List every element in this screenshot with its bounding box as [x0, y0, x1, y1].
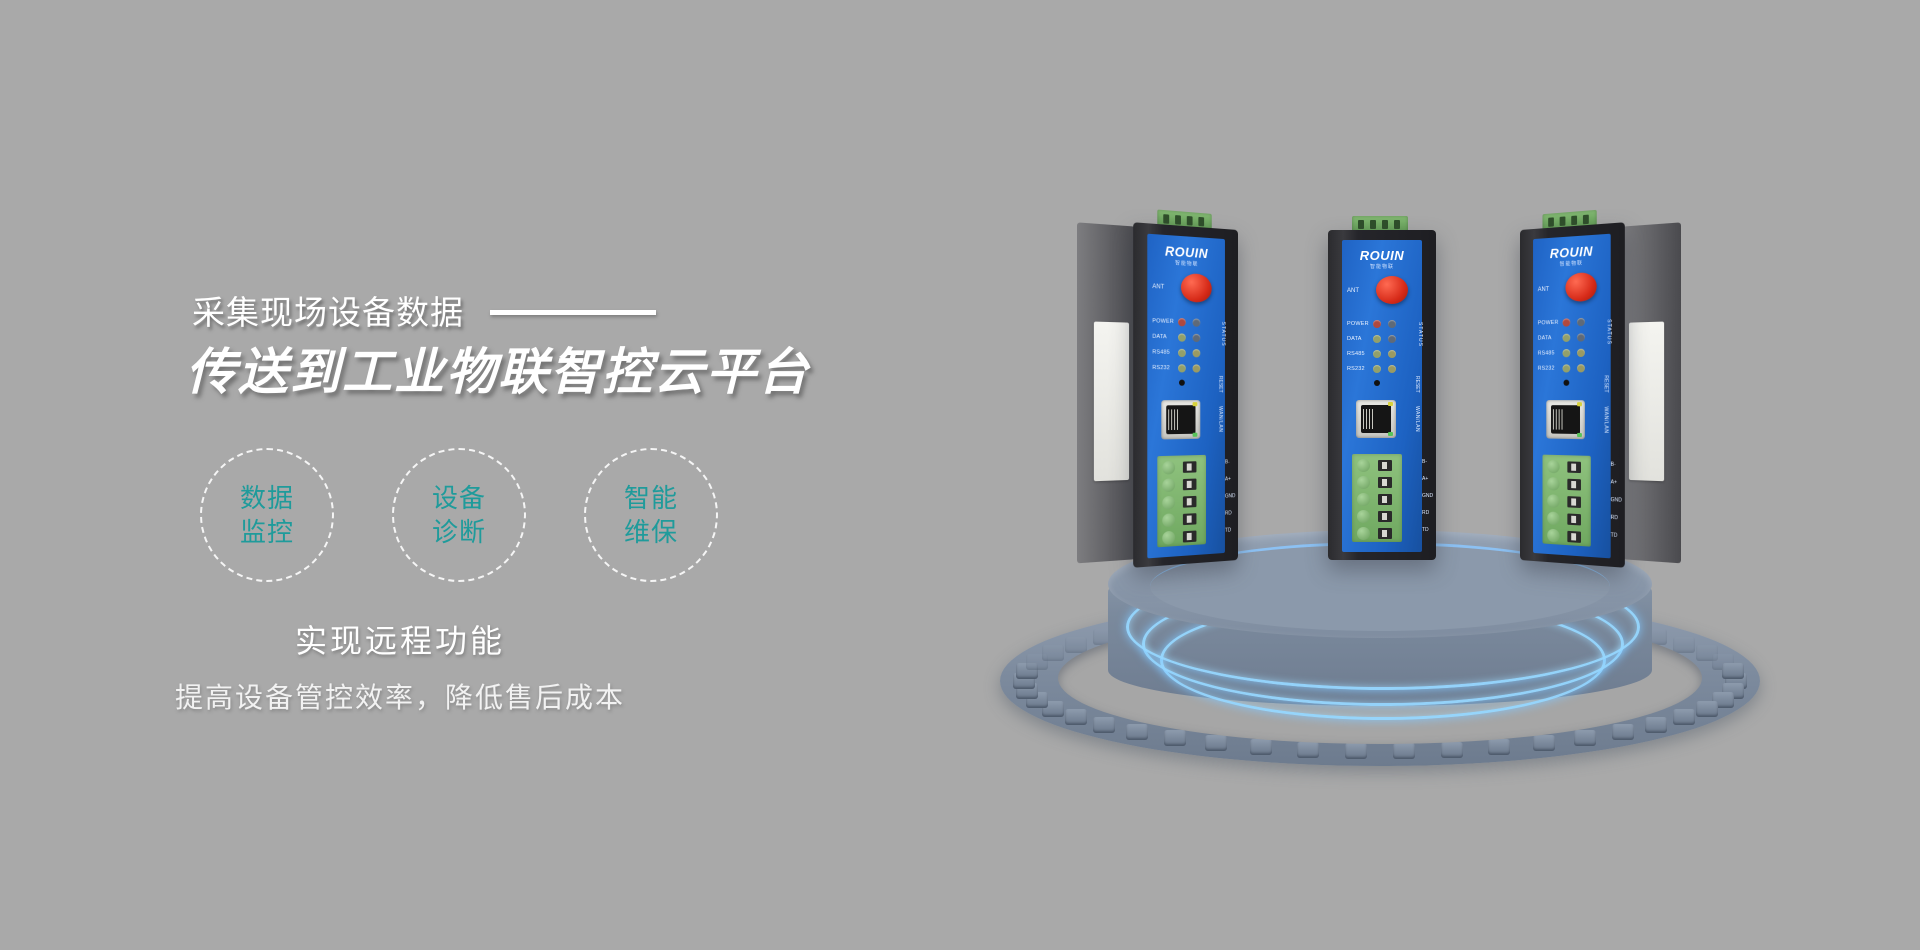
feature-circle-line1: 数据: [240, 481, 294, 515]
rj45-led-yellow: [1577, 402, 1582, 406]
copy-block: 采集现场设备数据 传送到工业物联智控云平台 数据 监控 设备 诊断 智能 维保 …: [0, 0, 960, 950]
led-row-rs485: RS485: [1152, 344, 1220, 361]
led-label: POWER: [1347, 321, 1373, 327]
terminal-pin-label: RD: [1225, 505, 1234, 523]
terminal-slot: [1183, 496, 1197, 508]
terminal-slot: [1567, 531, 1581, 543]
led-indicator: [1577, 364, 1585, 372]
led-label: RS485: [1538, 350, 1563, 357]
terminal-slot: [1378, 477, 1392, 488]
led-indicator: [1373, 350, 1381, 358]
device-product-label-sticker: [1094, 322, 1129, 482]
pedestal-tooth: [1533, 735, 1555, 751]
brand-subtitle: 智能物联: [1342, 263, 1422, 270]
reset-label: RESET: [1603, 375, 1609, 392]
led-label: DATA: [1152, 333, 1178, 340]
rj45-pins: [1168, 409, 1180, 430]
pedestal-tooth: [1574, 730, 1596, 746]
led-indicator: [1577, 333, 1585, 341]
led-label: RS232: [1347, 366, 1373, 372]
led-indicator: [1373, 320, 1381, 328]
led-row-rs232: RS232: [1347, 361, 1417, 376]
terminal-slot: [1183, 461, 1197, 473]
eyebrow-rule-divider: [490, 310, 656, 315]
terminal-pin-label: RD: [1422, 505, 1432, 522]
product-photo-stage: ROUIN 智能物联 ANT POWER DATA RS485: [1000, 230, 1800, 790]
feature-circle-data-monitoring[interactable]: 数据 监控: [200, 448, 334, 582]
led-indicator-panel: POWER DATA RS485 RS232: [1347, 316, 1417, 376]
terminal-pin-label: B-: [1611, 456, 1621, 474]
terminal-slot: [1378, 494, 1392, 505]
rj45-cavity: [1551, 405, 1580, 434]
rj45-led-green: [1577, 433, 1582, 437]
terminal-pin-label-column: B-A+GNDRDTD: [1225, 454, 1234, 543]
feature-circle-device-diagnosis[interactable]: 设备 诊断: [392, 448, 526, 582]
rj45-led-green: [1388, 432, 1393, 436]
terminal-slot: [1378, 528, 1392, 539]
terminal-screw: [1357, 476, 1370, 489]
status-label: STATUS: [1417, 322, 1423, 347]
pedestal-tooth: [1297, 742, 1319, 758]
feature-circle-line1: 智能: [624, 481, 678, 515]
terminal-slot: [1567, 461, 1581, 473]
product-banner: 采集现场设备数据 传送到工业物联智控云平台 数据 监控 设备 诊断 智能 维保 …: [0, 0, 1920, 950]
gateway-device-right: ROUIN 智能物联 ANT POWER DATA RS485: [1520, 222, 1625, 568]
led-indicator-panel: POWER DATA RS485 RS232: [1152, 313, 1220, 376]
terminal-pin-label: GND: [1422, 488, 1432, 505]
antenna-connector-icon: [1376, 276, 1408, 304]
rj45-ethernet-port: [1356, 400, 1396, 438]
pedestal-tooth: [1722, 663, 1744, 679]
rj45-cavity: [1166, 405, 1195, 434]
gateway-device-left: ROUIN 智能物联 ANT POWER DATA RS485: [1133, 222, 1238, 568]
terminal-pin-label: GND: [1225, 488, 1234, 505]
terminal-screw: [1547, 460, 1559, 474]
reset-button-hole[interactable]: [1563, 380, 1569, 386]
terminal-slot: [1183, 479, 1197, 491]
led-indicator: [1178, 333, 1186, 341]
terminal-slot: [1378, 460, 1392, 471]
pedestal-tooth: [1696, 701, 1718, 717]
terminal-pin-label: A+: [1611, 474, 1621, 492]
terminal-screw: [1357, 493, 1370, 506]
pedestal-tooth: [1250, 739, 1272, 755]
led-indicator: [1193, 333, 1201, 341]
led-row-data: DATA: [1152, 329, 1220, 346]
led-indicator: [1373, 335, 1381, 343]
led-indicator: [1577, 317, 1585, 325]
terminal-screw: [1547, 529, 1559, 543]
status-label: STATUS: [1606, 319, 1612, 345]
led-indicator: [1388, 365, 1396, 373]
terminal-slot: [1183, 513, 1197, 525]
pedestal-tooth: [1205, 735, 1227, 751]
antenna-connector-icon: [1565, 272, 1596, 302]
terminal-screw: [1357, 527, 1370, 540]
terminal-screw: [1162, 513, 1175, 527]
gateway-device-center: ROUIN 智能物联 ANT POWER DATA RS485: [1328, 230, 1436, 560]
led-label: RS232: [1538, 365, 1563, 371]
led-label: DATA: [1347, 336, 1373, 342]
terminal-screw: [1547, 494, 1559, 508]
pedestal-tooth: [1065, 709, 1087, 725]
sub-copy-text: 提高设备管控效率，降低售后成本: [0, 676, 800, 716]
rj45-led-green: [1193, 433, 1198, 437]
reset-label: RESET: [1217, 376, 1223, 393]
feature-circle-line1: 设备: [432, 481, 486, 515]
rj45-led-yellow: [1388, 402, 1393, 406]
terminal-screw: [1547, 511, 1559, 525]
led-row-rs485: RS485: [1538, 344, 1606, 361]
wan-lan-label: WAN/LAN: [1603, 406, 1609, 433]
rj45-led-yellow: [1193, 402, 1198, 406]
led-indicator: [1373, 365, 1381, 373]
pedestal-tooth: [1042, 645, 1064, 661]
antenna-connector-icon: [1181, 273, 1212, 303]
led-indicator: [1388, 335, 1396, 343]
led-label: DATA: [1538, 334, 1563, 341]
device-group: ROUIN 智能物联 ANT POWER DATA RS485: [1120, 230, 1680, 590]
status-label: STATUS: [1220, 321, 1226, 346]
led-row-rs232: RS232: [1538, 360, 1606, 376]
feature-circle-line2: 诊断: [432, 515, 486, 549]
rj45-ethernet-port: [1546, 400, 1585, 439]
terminal-screw: [1357, 510, 1370, 523]
terminal-pin-label: A+: [1225, 471, 1234, 488]
terminal-pin-label: TD: [1611, 527, 1621, 545]
pedestal-tooth: [1065, 637, 1087, 653]
ant-label: ANT: [1152, 284, 1164, 291]
led-indicator: [1563, 348, 1571, 356]
led-label: POWER: [1538, 319, 1563, 326]
led-indicator: [1178, 348, 1186, 356]
terminal-pin-label: B-: [1422, 454, 1432, 471]
pedestal-tooth: [1645, 717, 1667, 733]
ant-label: ANT: [1538, 287, 1549, 294]
led-indicator: [1193, 349, 1201, 357]
wan-lan-label: WAN/LAN: [1217, 406, 1223, 432]
eyebrow-row: 采集现场设备数据: [192, 296, 656, 329]
pedestal-tooth: [1393, 743, 1415, 759]
screw-terminal-block: [1542, 455, 1590, 547]
sub-heading: 实现远程功能: [0, 616, 800, 662]
device-front-panel: ROUIN 智能物联 ANT POWER DATA RS485: [1533, 234, 1611, 559]
rj45-cavity: [1361, 405, 1391, 433]
terminal-slot: [1567, 479, 1581, 491]
screw-terminal-block: [1157, 455, 1206, 547]
led-indicator: [1388, 350, 1396, 358]
led-indicator: [1193, 318, 1201, 326]
pedestal-tooth: [1673, 637, 1695, 653]
led-indicator-panel: POWER DATA RS485 RS232: [1538, 313, 1606, 376]
led-indicator: [1388, 320, 1396, 328]
led-indicator: [1563, 318, 1571, 326]
led-indicator: [1563, 333, 1571, 341]
eyebrow-text: 采集现场设备数据: [192, 296, 464, 329]
terminal-screw: [1162, 478, 1175, 492]
terminal-screw: [1357, 459, 1370, 472]
feature-circle-line2: 维保: [624, 515, 678, 549]
terminal-pin-label: A+: [1422, 471, 1432, 488]
pedestal-tooth: [1164, 730, 1186, 746]
led-indicator: [1193, 364, 1201, 372]
pedestal-tooth: [1345, 743, 1367, 759]
led-indicator: [1178, 317, 1186, 325]
terminal-slot: [1567, 513, 1581, 525]
led-row-data: DATA: [1538, 329, 1606, 346]
feature-circle-smart-maintenance[interactable]: 智能 维保: [584, 448, 718, 582]
device-front-panel: ROUIN 智能物联 ANT POWER DATA RS485: [1342, 240, 1422, 552]
terminal-screw: [1162, 496, 1175, 510]
terminal-pin-label: TD: [1422, 522, 1432, 539]
screw-terminal-block: [1352, 454, 1402, 542]
pedestal-tooth: [1093, 717, 1115, 733]
led-label: POWER: [1152, 318, 1178, 325]
ant-label: ANT: [1347, 288, 1359, 294]
reset-label: RESET: [1414, 376, 1420, 393]
led-indicator: [1577, 348, 1585, 356]
terminal-screw: [1162, 461, 1175, 475]
led-row-data: DATA: [1347, 331, 1417, 346]
feature-circle-row: 数据 监控 设备 诊断 智能 维保: [200, 448, 718, 582]
rj45-ethernet-port: [1161, 400, 1200, 439]
led-row-power: POWER: [1347, 316, 1417, 331]
feature-circle-line2: 监控: [240, 515, 294, 549]
reset-button-hole[interactable]: [1374, 380, 1380, 386]
terminal-slot: [1567, 496, 1581, 508]
led-label: RS232: [1152, 364, 1178, 371]
led-row-rs485: RS485: [1347, 346, 1417, 361]
device-front-panel: ROUIN 智能物联 ANT POWER DATA RS485: [1147, 234, 1225, 559]
pedestal-tooth: [1126, 724, 1148, 740]
wan-lan-label: WAN/LAN: [1414, 406, 1420, 432]
led-label: RS485: [1152, 349, 1178, 356]
terminal-pin-label: B-: [1225, 454, 1234, 471]
reset-button-hole[interactable]: [1179, 380, 1185, 386]
device-product-label-sticker: [1629, 322, 1664, 482]
terminal-slot: [1183, 530, 1197, 542]
terminal-screw: [1547, 477, 1559, 491]
rj45-pins: [1553, 409, 1565, 429]
led-indicator: [1178, 364, 1186, 372]
terminal-pin-label: TD: [1225, 522, 1234, 540]
brand-logo: ROUIN: [1342, 248, 1422, 263]
rj45-pins: [1363, 409, 1375, 429]
led-label: RS485: [1347, 351, 1373, 357]
terminal-pin-label-column: B-A+GNDRDTD: [1611, 456, 1621, 548]
pedestal-tooth: [1488, 739, 1510, 755]
led-indicator: [1563, 364, 1571, 372]
terminal-slot: [1378, 511, 1392, 522]
page-title: 传送到工业物联智控云平台: [186, 342, 810, 403]
led-row-rs232: RS232: [1152, 360, 1220, 376]
pedestal-tooth: [1612, 724, 1634, 740]
terminal-pin-label-column: B-A+GNDRDTD: [1422, 454, 1432, 542]
terminal-screw: [1162, 531, 1175, 545]
pedestal-tooth: [1441, 742, 1463, 758]
terminal-pin-label: RD: [1611, 509, 1621, 527]
pedestal-tooth: [1673, 709, 1695, 725]
terminal-pin-label: GND: [1611, 492, 1621, 510]
